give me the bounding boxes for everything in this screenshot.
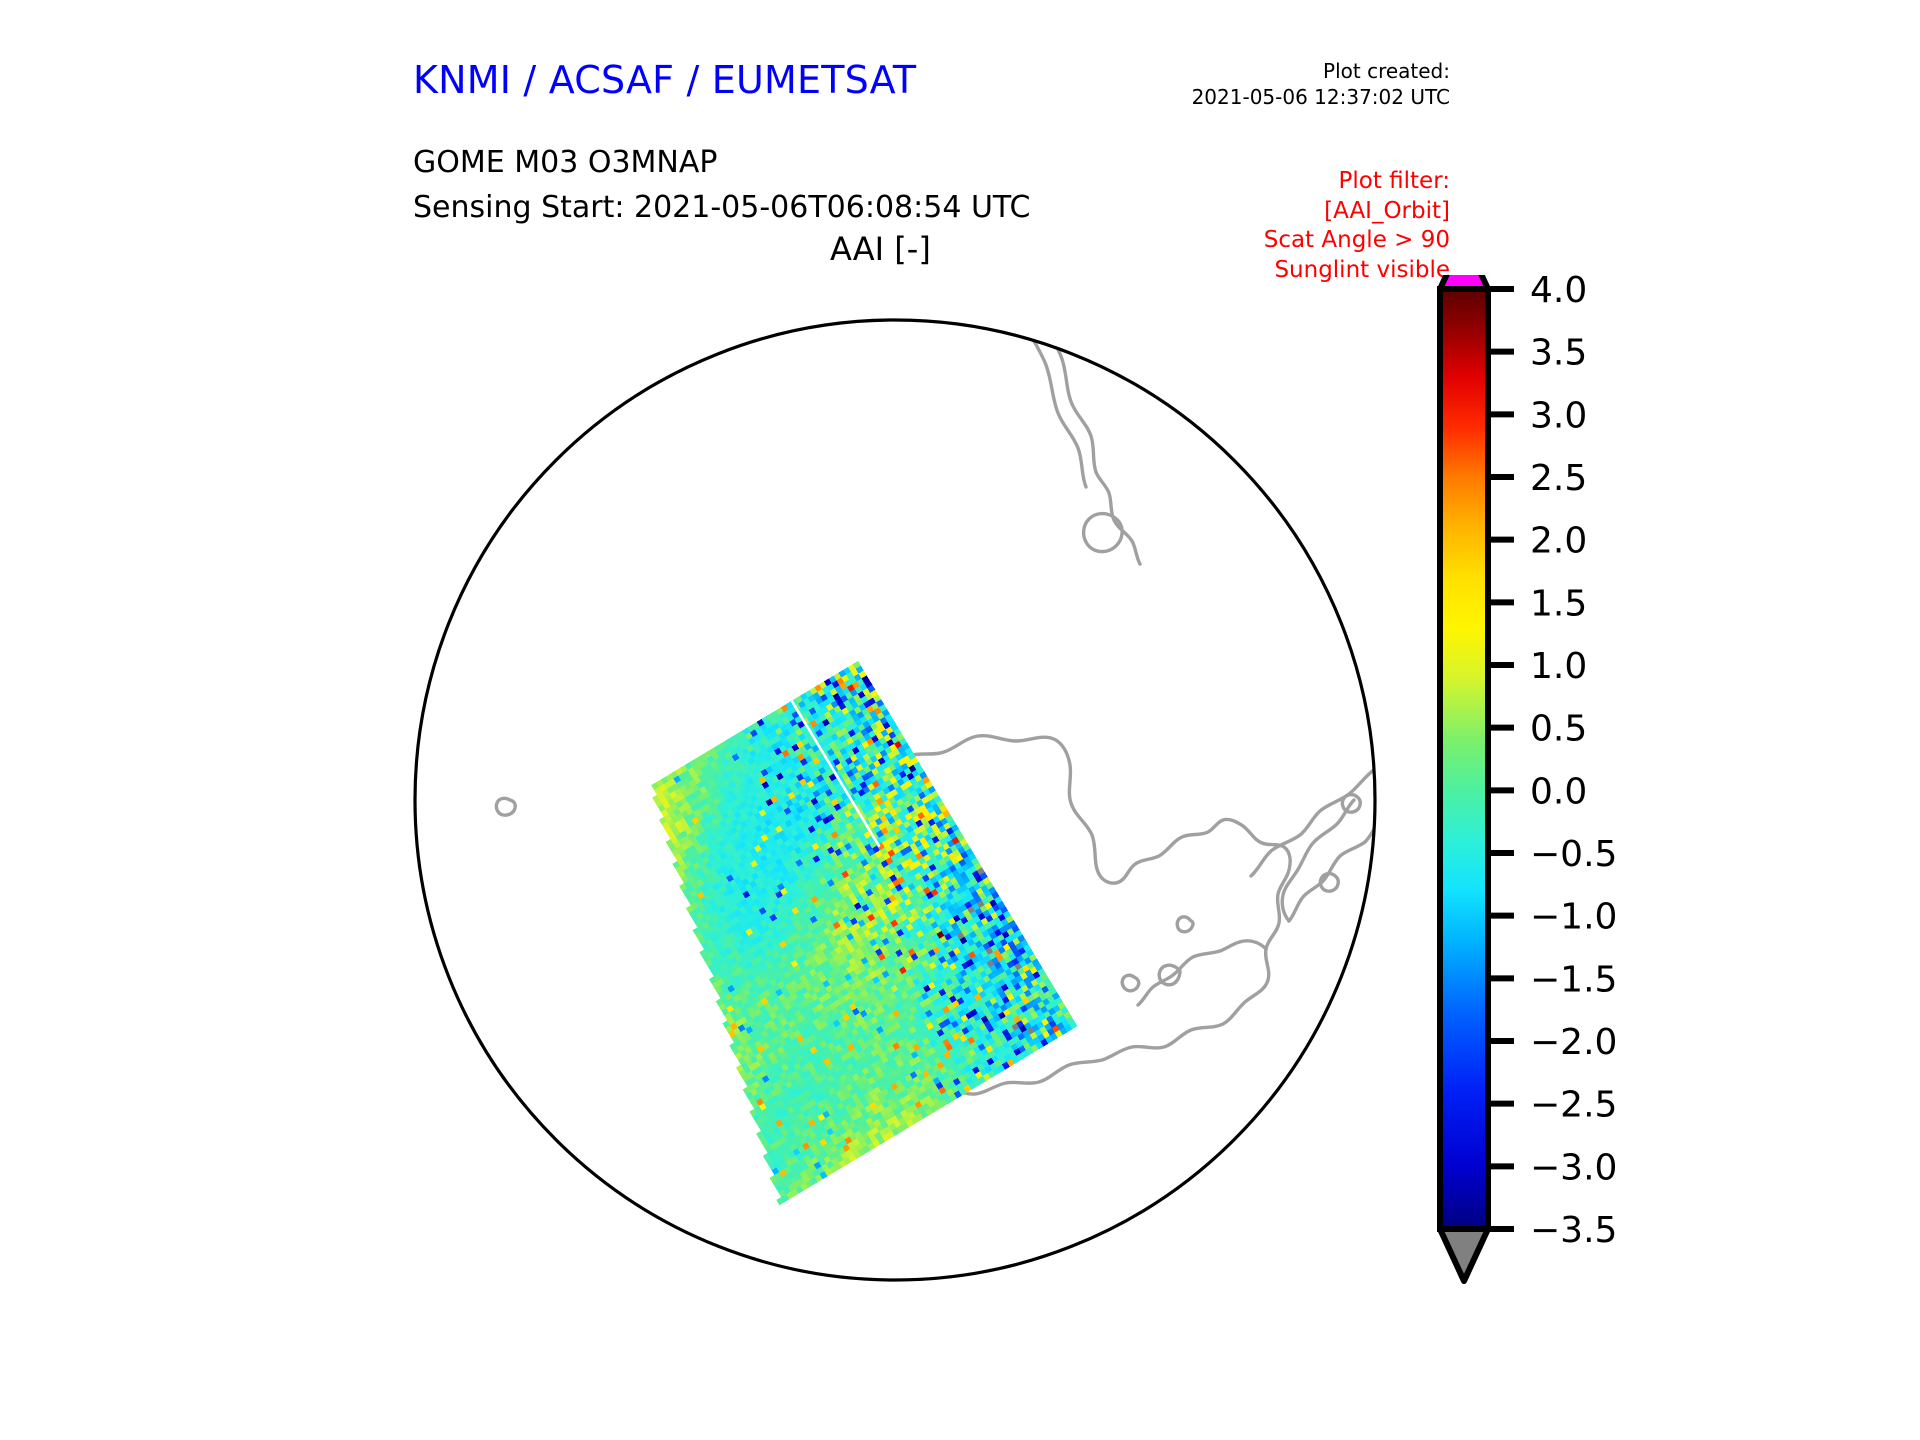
colorbar-panel: 4.03.53.02.52.01.51.00.50.0−0.5−1.0−1.5−… (1430, 275, 1850, 1315)
instrument-line: GOME M03 O3MNAP (413, 140, 1030, 185)
colorbar-tick-label: −2.5 (1530, 1085, 1617, 1126)
colorbar-tick-label: 4.0 (1530, 275, 1587, 311)
colorbar-gradient (1440, 289, 1488, 1229)
map-panel (390, 280, 1400, 1310)
colorbar-tick-label: 2.5 (1530, 458, 1587, 499)
colorbar-tick-label: 3.0 (1530, 395, 1587, 436)
plot-filter-line-1: Plot filter: (1165, 167, 1450, 197)
colorbar-ticks: 4.03.53.02.52.01.51.00.50.0−0.5−1.0−1.5−… (1488, 275, 1617, 1251)
sensing-start-line: Sensing Start: 2021-05-06T06:08:54 UTC (413, 185, 1030, 230)
colorbar-tick-label: −2.0 (1530, 1022, 1617, 1063)
plot-filter-line-3: Scat Angle > 90 (1165, 226, 1450, 256)
organisation-title: KNMI / ACSAF / EUMETSAT (413, 58, 916, 102)
colorbar-tick-label: 3.5 (1530, 333, 1587, 374)
colorbar-tick-label: −3.5 (1530, 1210, 1617, 1251)
colorbar-tick-label: 1.5 (1530, 583, 1587, 624)
colorbar-tick-label: −3.0 (1530, 1147, 1617, 1188)
colorbar-tick-label: 0.0 (1530, 771, 1587, 812)
plot-created-value: 2021-05-06 12:37:02 UTC (1160, 84, 1450, 110)
colorbar-tick-label: 0.5 (1530, 709, 1587, 750)
colorbar-tick-label: −1.0 (1530, 897, 1617, 938)
colorbar-tick-label: 1.0 (1530, 646, 1587, 687)
colorbar-under-arrow (1440, 1229, 1488, 1281)
plot-filter-block: Plot filter: [AAI_Orbit] Scat Angle > 90… (1165, 167, 1450, 285)
plot-created-block: Plot created: 2021-05-06 12:37:02 UTC (1160, 58, 1450, 110)
colorbar-tick-label: −1.5 (1530, 959, 1617, 1000)
plot-filter-line-2: [AAI_Orbit] (1165, 197, 1450, 227)
page-title: AAI [-] (830, 230, 931, 268)
dataset-info-block: GOME M03 O3MNAP Sensing Start: 2021-05-0… (413, 140, 1030, 230)
plot-created-label: Plot created: (1160, 58, 1450, 84)
colorbar-tick-label: 2.0 (1530, 521, 1587, 562)
colorbar-tick-label: −0.5 (1530, 834, 1617, 875)
